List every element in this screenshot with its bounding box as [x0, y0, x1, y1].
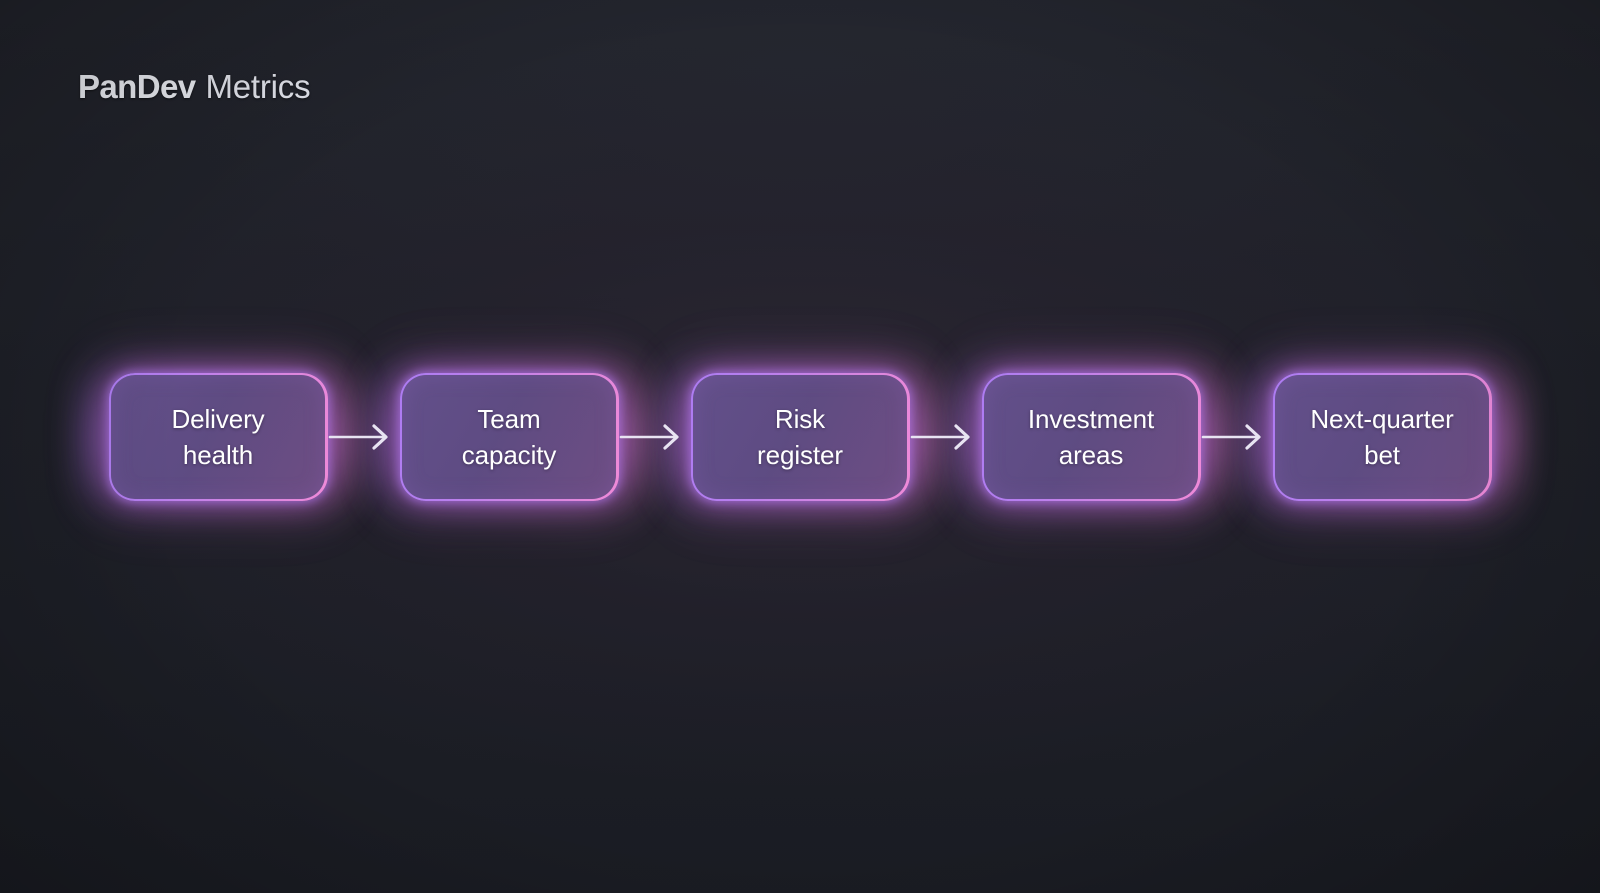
- flow-node-next-quarter-bet[interactable]: Next-quarter bet: [1273, 373, 1492, 501]
- flow-connector-risk-register-to-investment-areas: [910, 373, 982, 501]
- node-label: Team capacity: [450, 401, 569, 473]
- slide-canvas: PanDev Metrics Delivery healthTeam capac…: [0, 0, 1600, 893]
- brand-sub-metrics: Metrics: [205, 68, 310, 106]
- flow-diagram: Delivery healthTeam capacityRisk registe…: [0, 373, 1600, 501]
- node-label: Next-quarter bet: [1298, 401, 1465, 473]
- flow-connector-investment-areas-to-next-quarter-bet: [1201, 373, 1273, 501]
- node-label: Risk register: [745, 401, 855, 473]
- arrow-right-icon: [1201, 422, 1273, 452]
- arrow-right-icon: [910, 422, 982, 452]
- node-body: Risk register: [693, 375, 907, 498]
- flow-node-risk-register[interactable]: Risk register: [691, 373, 910, 501]
- brand-mark-pandev: PanDev: [78, 68, 195, 106]
- node-card[interactable]: Next-quarter bet: [1273, 373, 1492, 501]
- node-label: Investment areas: [1016, 401, 1166, 473]
- flow-node-delivery-health[interactable]: Delivery health: [109, 373, 328, 501]
- node-body: Delivery health: [111, 375, 325, 498]
- flow-connector-delivery-health-to-team-capacity: [328, 373, 400, 501]
- node-body: Next-quarter bet: [1275, 375, 1489, 498]
- flow-node-team-capacity[interactable]: Team capacity: [400, 373, 619, 501]
- node-card[interactable]: Team capacity: [400, 373, 619, 501]
- node-card[interactable]: Investment areas: [982, 373, 1201, 501]
- brand-logo: PanDev Metrics: [78, 68, 310, 106]
- arrow-right-icon: [619, 422, 691, 452]
- node-body: Team capacity: [402, 375, 616, 498]
- node-label: Delivery health: [159, 401, 276, 473]
- flow-connector-team-capacity-to-risk-register: [619, 373, 691, 501]
- node-card[interactable]: Risk register: [691, 373, 910, 501]
- node-card[interactable]: Delivery health: [109, 373, 328, 501]
- arrow-right-icon: [328, 422, 400, 452]
- node-body: Investment areas: [984, 375, 1198, 498]
- flow-node-investment-areas[interactable]: Investment areas: [982, 373, 1201, 501]
